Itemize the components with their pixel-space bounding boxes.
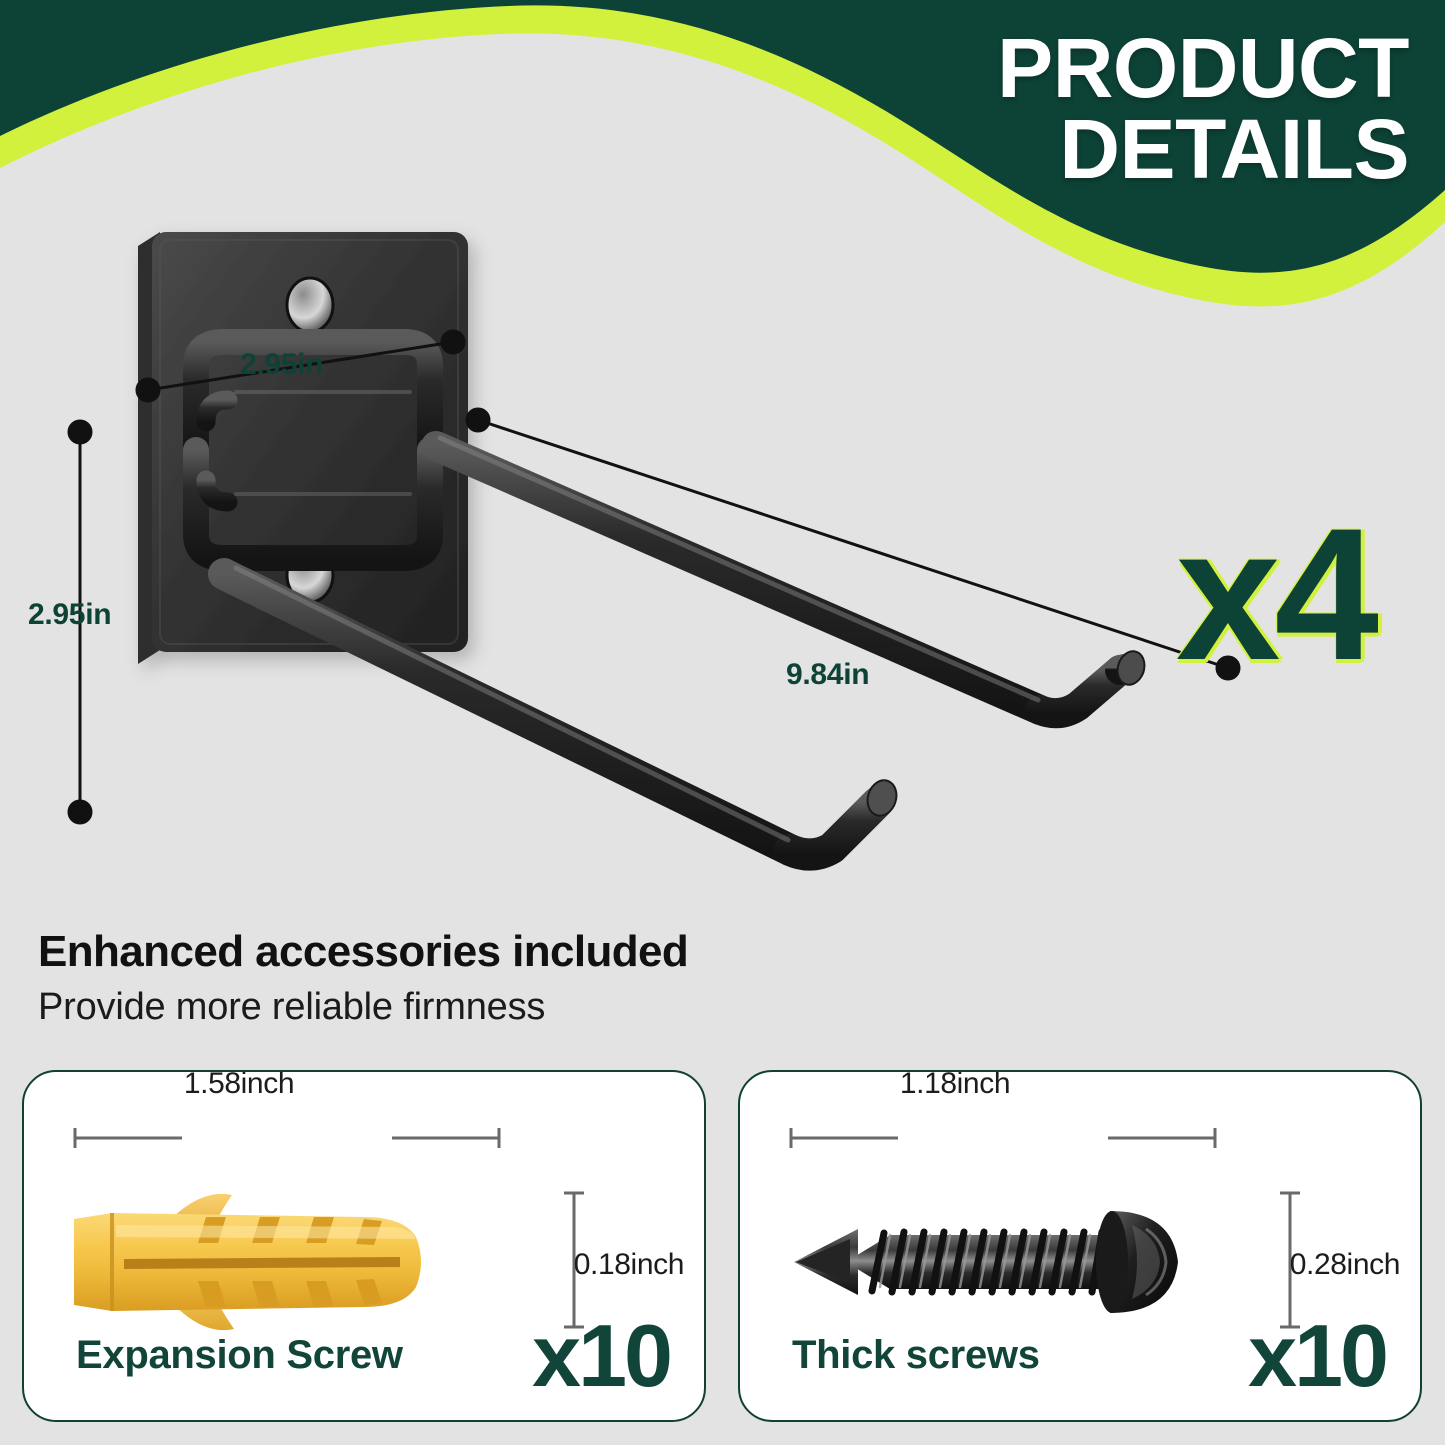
accessory-name: Thick screws: [792, 1333, 1040, 1378]
accessory-name: Expansion Screw: [76, 1333, 403, 1378]
accessories-title: Enhanced accessories included: [38, 928, 688, 976]
accessories-heading-block: Enhanced accessories included Provide mo…: [38, 928, 688, 1029]
dimension-label-arm-length: 9.84in: [786, 658, 869, 692]
product-quantity-badge: x4: [1176, 500, 1373, 688]
length-dimension-label: 1.18inch: [740, 1070, 1170, 1101]
hook-arm-far: [430, 446, 1130, 715]
page-title-line-2: DETAILS: [789, 109, 1409, 190]
accessory-quantity: x10: [1248, 1312, 1386, 1400]
diameter-dimension-label: 0.28inch: [1290, 1248, 1400, 1282]
length-dimension-label: 1.58inch: [24, 1070, 454, 1101]
infographic-stage: PRODUCT DETAILS: [0, 0, 1445, 1445]
accessory-card-thick-screws[interactable]: 1.18inch 0.28inch: [738, 1070, 1422, 1422]
length-dimension-rule: [72, 1124, 502, 1150]
dimension-label-height: 2.95in: [28, 598, 111, 632]
page-title-line-1: PRODUCT: [789, 28, 1409, 109]
expansion-screw-icon: [64, 1177, 524, 1347]
accessories-subtitle: Provide more reliable firmness: [38, 986, 688, 1029]
dimension-label-width: 2.95in: [240, 348, 323, 382]
hook-arm-near: [224, 574, 878, 855]
accessory-quantity: x10: [532, 1312, 670, 1400]
accessory-card-expansion-screw[interactable]: 1.58inch 0.18inch: [22, 1070, 706, 1422]
length-dimension-rule: [788, 1124, 1218, 1150]
page-title: PRODUCT DETAILS: [789, 28, 1409, 189]
diameter-dimension-label: 0.18inch: [574, 1248, 684, 1282]
thick-screw-icon: [780, 1177, 1240, 1347]
accessory-card-list: 1.58inch 0.18inch: [22, 1070, 1422, 1422]
